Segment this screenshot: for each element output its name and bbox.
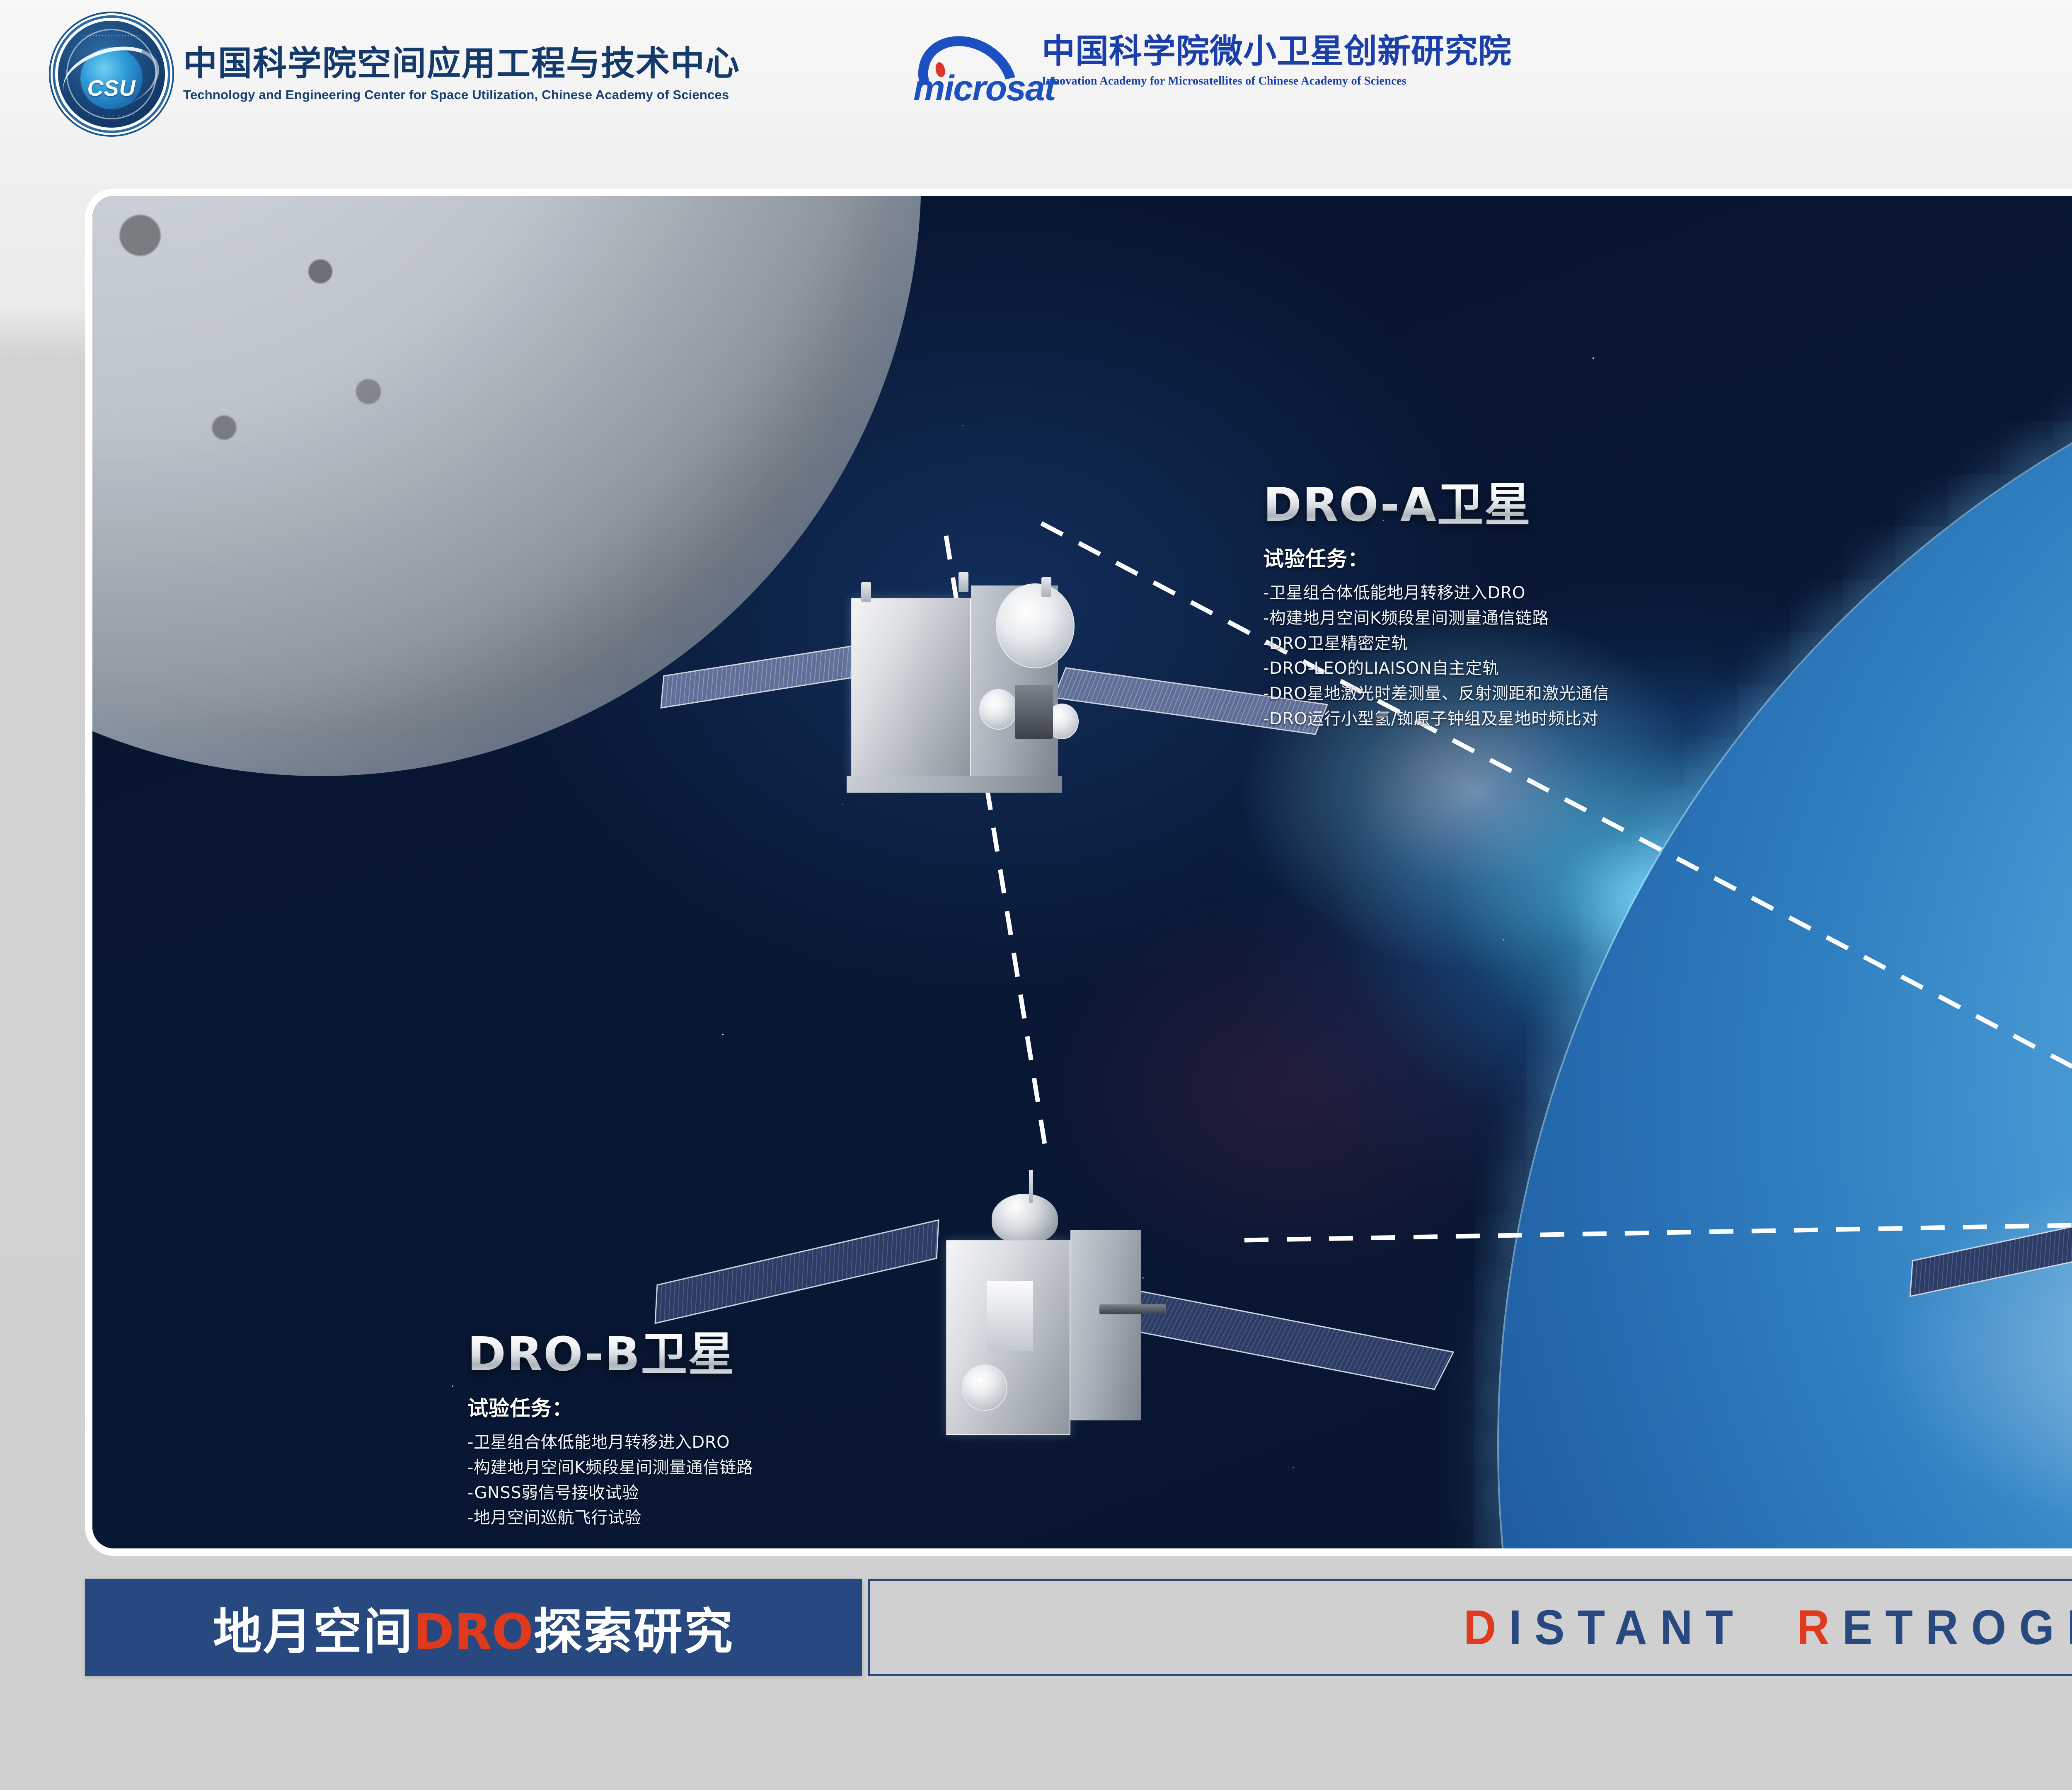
satellite-dro-l	[1957, 1182, 2072, 1497]
microsat-names: 中国科学院微小卫星创新研究院 Innovation Academy for Mi…	[1042, 30, 1512, 88]
dro-a-bus-front	[851, 598, 971, 780]
header-bar: ····················· CSU · · · · · · · …	[0, 0, 2072, 166]
dro-b-mission-list: -卫星组合体低能地月转移进入DRO -构建地月空间K频段星间测量通信链路 -GN…	[467, 1430, 753, 1531]
dro-b-top-dome	[992, 1194, 1058, 1243]
dro-b-subtitle: 试验任务：	[467, 1392, 753, 1422]
dro-b-radiator	[987, 1281, 1033, 1351]
csu-logo-group: ····················· CSU · · · · · · · …	[58, 21, 740, 128]
dro-a-info-block: DRO-A卫星 试验任务： -卫星组合体低能地月转移进入DRO -构建地月空间K…	[1263, 482, 1610, 732]
footer-cn-accent: DRO	[414, 1603, 533, 1660]
footer-chinese-title: 地月空间DRO探索研究	[213, 1592, 734, 1663]
list-item: -DRO运行小型氢/铷原子钟组及星地时频比对	[1263, 706, 1610, 732]
satellite-dro-a	[784, 561, 1220, 842]
csu-emblem-arc-bottom-label: · · · · · · · · · ·	[58, 112, 165, 119]
footer-chinese-title-box: 地月空间DRO探索研究	[85, 1579, 862, 1676]
csu-name-en: Technology and Engineering Center for Sp…	[183, 87, 740, 102]
mission-illustration-panel: DRO-A卫星 试验任务： -卫星组合体低能地月转移进入DRO -构建地月空间K…	[85, 189, 2072, 1556]
microsat-name-en: Innovation Academy for Microsatellites o…	[1042, 75, 1512, 88]
footer-en-w1-accent: D	[1464, 1600, 1509, 1655]
footer-english-title: DISTANT RETROGRADE ORBIT	[1464, 1599, 2072, 1656]
dro-a-base-plate	[847, 776, 1062, 793]
list-item: -DRO-LEO的LIAISON自主定轨	[1263, 656, 1610, 681]
dro-b-title: DRO-B卫星	[467, 1331, 753, 1378]
satellite-dro-b	[739, 1182, 1443, 1489]
microsat-wordmark: microsat	[913, 68, 1055, 109]
dro-a-thruster-2	[959, 572, 968, 592]
dro-b-info-block: DRO-B卫星 试验任务： -卫星组合体低能地月转移进入DRO -构建地月空间K…	[467, 1331, 753, 1531]
list-item: -地月空间巡航飞行试验	[467, 1505, 753, 1531]
csu-emblem-icon: ····················· CSU · · · · · · · …	[58, 21, 165, 128]
dro-a-mission-list: -卫星组合体低能地月转移进入DRO -构建地月空间K频段星间测量通信链路 -DR…	[1263, 581, 1610, 732]
csu-wordmark: 中国科学院空间应用工程与技术中心 Technology and Engineer…	[183, 46, 740, 103]
dro-b-bus-side	[1070, 1230, 1141, 1420]
dro-a-antenna-small-1	[979, 689, 1017, 730]
dro-a-thruster-3	[1041, 577, 1051, 597]
dro-a-instrument-box	[1015, 685, 1053, 739]
microsat-name-cn: 中国科学院微小卫星创新研究院	[1042, 35, 1512, 68]
list-item: -卫星组合体低能地月转移进入DRO	[1263, 581, 1610, 606]
list-item: -DRO星地激光时差测量、反射测距和激光通信	[1263, 681, 1610, 706]
footer-en-w2-accent: R	[1797, 1600, 1842, 1655]
footer-cn-post: 探索研究	[533, 1603, 734, 1660]
footer-english-title-box: DISTANT RETROGRADE ORBIT	[868, 1579, 2072, 1676]
microsat-mark-icon: microsat	[912, 30, 1036, 125]
csu-emblem-arc-top-label: ·····················	[58, 32, 165, 39]
dro-a-title: DRO-A卫星	[1263, 482, 1610, 528]
list-item: -构建地月空间K频段星间测量通信链路	[1263, 606, 1610, 631]
footer-cn-pre: 地月空间	[213, 1603, 414, 1660]
footer-en-space-1	[1746, 1600, 1797, 1655]
dro-a-subtitle: 试验任务：	[1263, 542, 1610, 572]
csu-name-cn: 中国科学院空间应用工程与技术中心	[183, 46, 740, 82]
microsat-logo-group: microsat 中国科学院微小卫星创新研究院 Innovation Acade…	[912, 30, 1512, 125]
dro-b-thruster	[1099, 1304, 1166, 1314]
footer-en-w1-rest: ISTANT	[1509, 1600, 1746, 1655]
csu-emblem-text: CSU	[87, 75, 136, 101]
list-item: -DRO卫星精密定轨	[1263, 631, 1610, 656]
dro-b-mast	[1029, 1170, 1033, 1203]
footer-banner: 地月空间DRO探索研究 DISTANT RETROGRADE ORBIT	[0, 1558, 2072, 1790]
list-item: -GNSS弱信号接收试验	[467, 1480, 753, 1506]
list-item: -卫星组合体低能地月转移进入DRO	[467, 1430, 753, 1455]
dro-b-antenna	[962, 1364, 1007, 1411]
footer-en-w2-rest: ETROGRADE	[1842, 1600, 2072, 1655]
list-item: -构建地月空间K频段星间测量通信链路	[467, 1455, 753, 1480]
dro-a-high-gain-antenna	[996, 583, 1075, 668]
dro-a-thruster-1	[861, 582, 871, 602]
